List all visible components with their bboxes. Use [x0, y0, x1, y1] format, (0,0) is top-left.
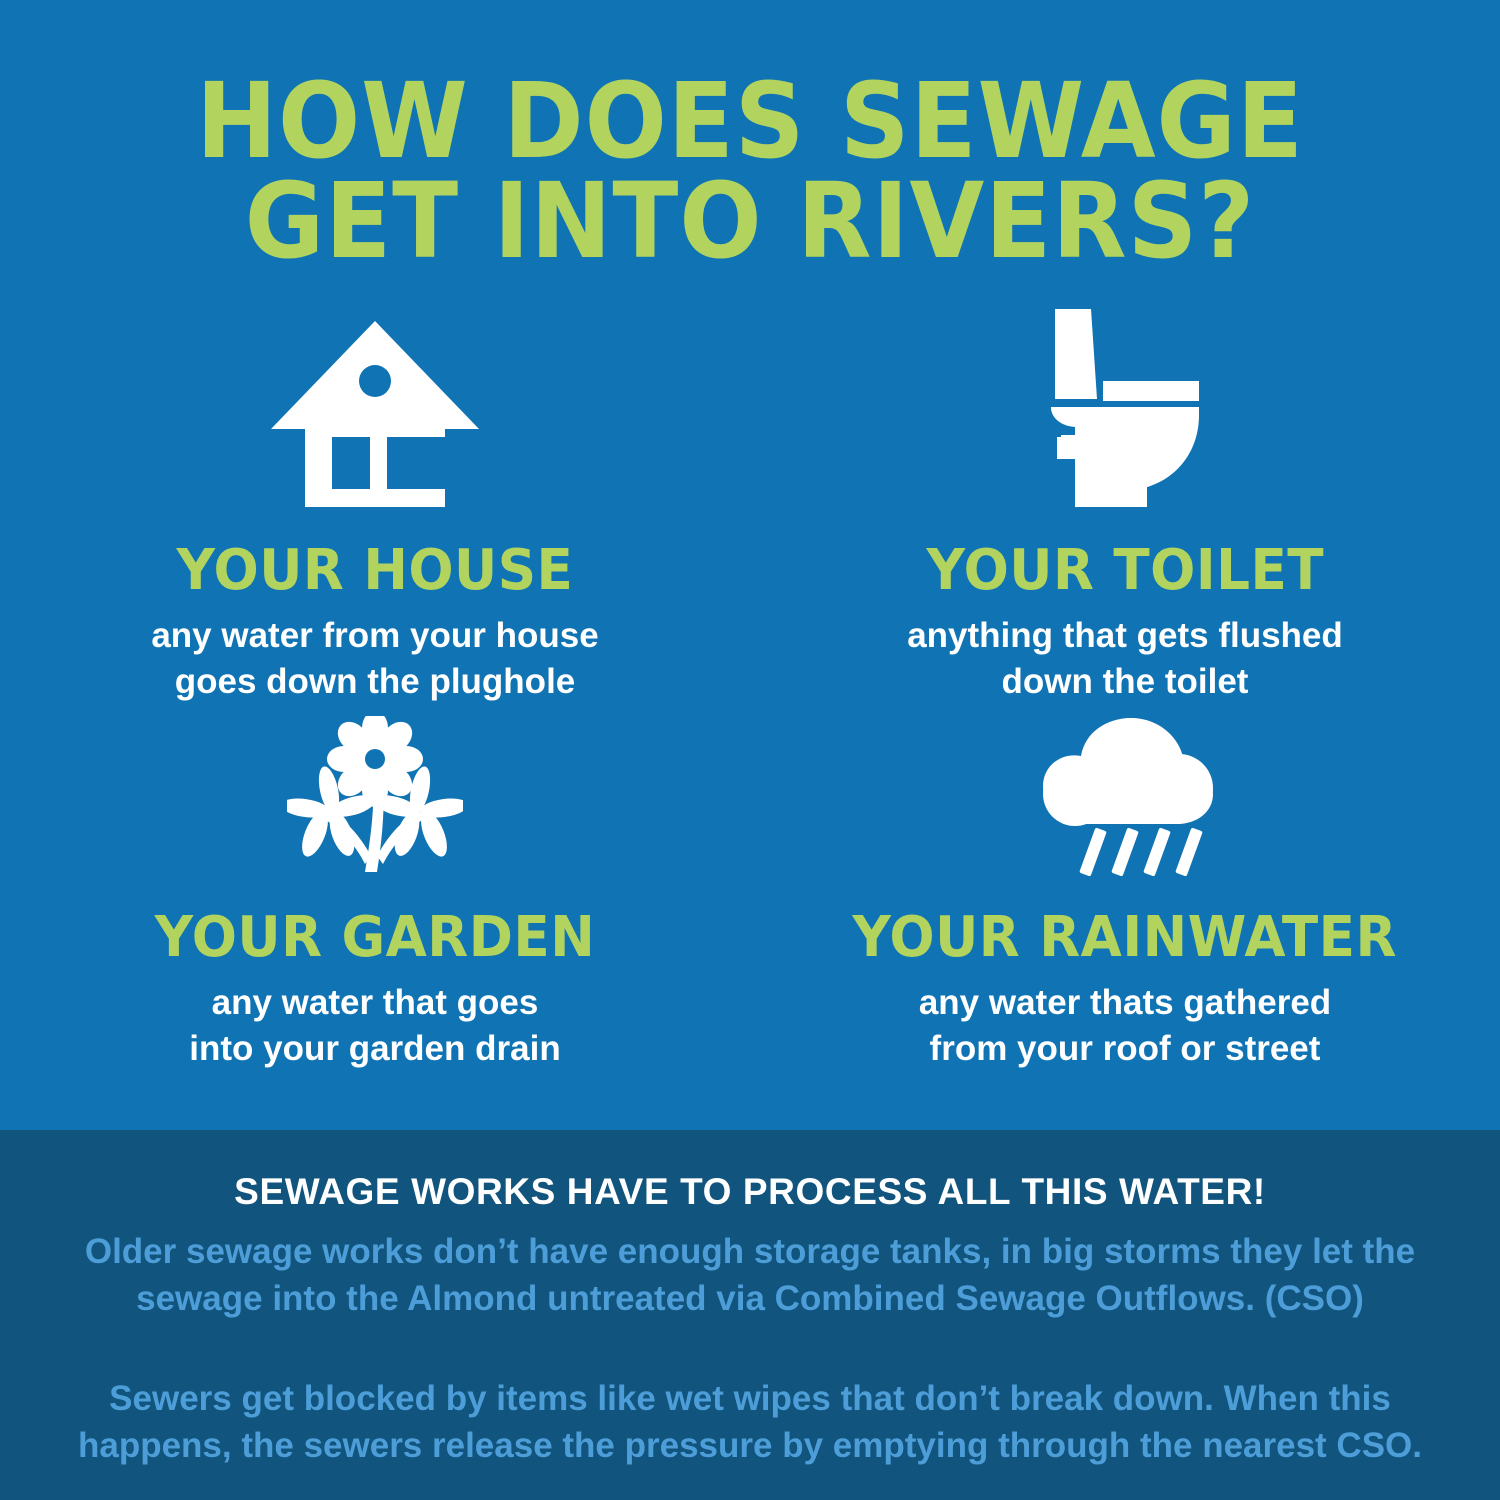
source-cards-grid: YOUR HOUSE any water from your house goe… [0, 306, 1500, 1106]
flower-icon-wrap [287, 706, 463, 876]
toilet-icon [1047, 307, 1203, 509]
title-line-1: HOW DOES SEWAGE [53, 72, 1448, 172]
card-heading-your-toilet: YOUR TOILET [926, 543, 1324, 599]
card-heading-your-rainwater: YOUR RAINWATER [853, 910, 1398, 966]
rain-cloud-icon-wrap [1035, 706, 1215, 876]
card-heading-your-house: YOUR HOUSE [177, 543, 574, 599]
infographic-poster: HOW DOES SEWAGE GET INTO RIVERS? YOUR HO… [0, 0, 1500, 1500]
card-your-rainwater: YOUR RAINWATER any water thats gathered … [750, 706, 1500, 1106]
toilet-icon-wrap [1047, 306, 1203, 510]
footer-paragraph-1: Older sewage works don’t have enough sto… [0, 1229, 1500, 1323]
flower-icon [287, 716, 463, 876]
footer-panel: SEWAGE WORKS HAVE TO PROCESS ALL THIS WA… [0, 1130, 1500, 1500]
card-subtitle-your-house: any water from your house goes down the … [151, 613, 598, 705]
card-your-toilet: YOUR TOILET anything that gets flushed d… [750, 306, 1500, 706]
card-subtitle-your-toilet: anything that gets flushed down the toil… [907, 613, 1343, 705]
footer-paragraph-2: Sewers get blocked by items like wet wip… [0, 1376, 1500, 1470]
house-icon-wrap [269, 306, 481, 510]
card-subtitle-your-rainwater: any water thats gathered from your roof … [919, 980, 1331, 1072]
rain-cloud-icon [1035, 716, 1215, 876]
footer-heading: SEWAGE WORKS HAVE TO PROCESS ALL THIS WA… [0, 1172, 1500, 1213]
card-your-garden: YOUR GARDEN any water that goes into you… [0, 706, 750, 1106]
house-icon [269, 319, 481, 509]
page-title: HOW DOES SEWAGE GET INTO RIVERS? [0, 0, 1500, 272]
card-your-house: YOUR HOUSE any water from your house goe… [0, 306, 750, 706]
card-heading-your-garden: YOUR GARDEN [155, 910, 596, 966]
title-line-2: GET INTO RIVERS? [53, 172, 1448, 272]
card-subtitle-your-garden: any water that goes into your garden dra… [189, 980, 560, 1072]
